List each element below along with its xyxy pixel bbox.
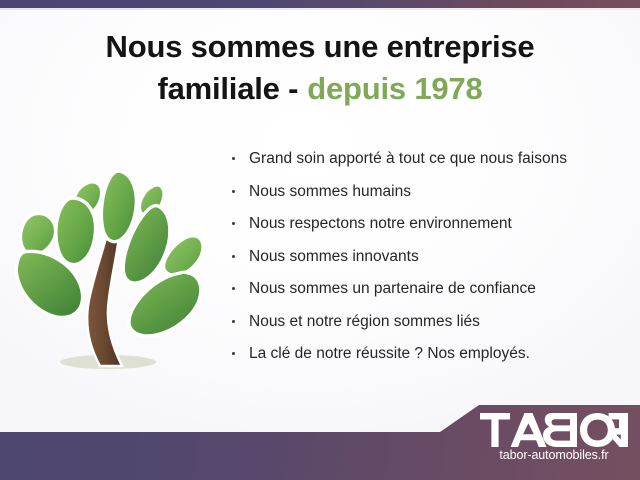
bullet-dot-icon (232, 287, 235, 290)
list-item: Nous sommes innovants (228, 246, 628, 268)
bullet-dot-icon (232, 222, 235, 225)
tree-leaf (20, 214, 55, 255)
list-item-label: Nous sommes un partenaire de confiance (249, 280, 536, 297)
list-item-label: Nous sommes innovants (249, 248, 419, 265)
top-accent-hairline (0, 8, 640, 10)
bullet-dot-icon (232, 190, 235, 193)
list-item: Grand soin apporté à tout ce que nous fa… (228, 148, 628, 170)
tree-leaf (101, 171, 136, 242)
slide-canvas: Nous sommes une entreprise familiale -de… (0, 0, 640, 480)
headline-line-1: Nous sommes une entreprise (0, 26, 640, 68)
tabor-wordmark (480, 413, 628, 447)
top-accent-bar (0, 0, 640, 8)
list-item-label: Grand soin apporté à tout ce que nous fa… (249, 150, 567, 167)
bullet-dot-icon (232, 352, 235, 355)
logo-letter-b-mirrored (543, 413, 577, 447)
logo-letter-t (480, 413, 510, 447)
list-item: Nous sommes un partenaire de confiance (228, 278, 628, 300)
headline-line-2: familiale -depuis 1978 (0, 68, 640, 110)
list-item-label: La clé de notre réussite ? Nos employés. (249, 345, 530, 362)
family-tree-illustration (12, 148, 220, 384)
list-item: La clé de notre réussite ? Nos employés. (228, 343, 628, 365)
headline-line-2-plain: familiale - (157, 71, 298, 106)
benefits-list: Grand soin apporté à tout ce que nous fa… (228, 148, 628, 376)
list-item: Nous sommes humains (228, 181, 628, 203)
bullet-dot-icon (232, 320, 235, 323)
headline-accent-text: depuis 1978 (307, 71, 482, 106)
tree-leaf (56, 198, 96, 264)
list-item-label: Nous respectons notre environnement (249, 215, 512, 232)
page-title: Nous sommes une entreprise familiale -de… (0, 26, 640, 110)
list-item: Nous respectons notre environnement (228, 213, 628, 235)
logo-letter-a (511, 413, 547, 447)
logo-tagline: tabor-automobiles.fr (480, 448, 628, 462)
tabor-logo[interactable]: tabor-automobiles.fr (480, 413, 628, 471)
bullet-dot-icon (232, 157, 235, 160)
bullet-dot-icon (232, 255, 235, 258)
list-item-label: Nous et notre région sommes liés (249, 313, 480, 330)
list-item-label: Nous sommes humains (249, 183, 411, 200)
list-item: Nous et notre région sommes liés (228, 311, 628, 333)
